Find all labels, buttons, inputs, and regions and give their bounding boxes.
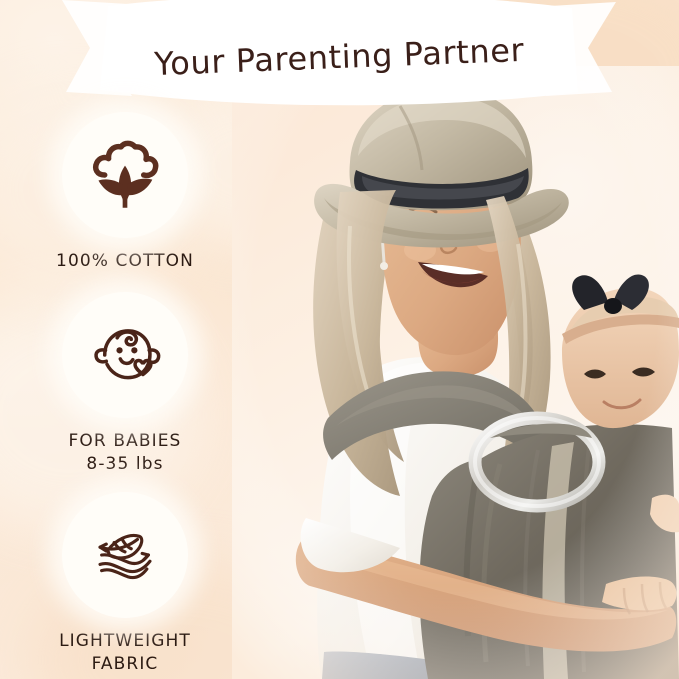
feature-label-line1: 100% COTTON (56, 251, 194, 271)
mother-and-baby-illustration (232, 66, 679, 679)
product-feature-poster: Your Parenting Partner 100% COTTON (0, 0, 679, 679)
headline-banner: Your Parenting Partner (0, 0, 679, 110)
feature-icon-badge (62, 492, 188, 618)
feature-item-babies: FOR BABIES 8-35 lbs (0, 292, 250, 477)
feature-label: LIGHTWEIGHT FABRIC (0, 630, 250, 677)
feature-label-line1: LIGHTWEIGHT (59, 631, 191, 651)
feature-item-cotton: 100% COTTON (0, 112, 250, 273)
lifestyle-photo (232, 66, 679, 679)
baby-face-icon (86, 316, 164, 394)
feature-label-line2: FABRIC (0, 653, 250, 676)
feature-icon-badge (62, 112, 188, 238)
feature-label: 100% COTTON (0, 250, 250, 273)
ribbon-shape (0, 0, 679, 110)
feature-icon-badge (62, 292, 188, 418)
feature-label: FOR BABIES 8-35 lbs (0, 430, 250, 477)
feather-fabric-icon (86, 516, 164, 594)
cotton-boll-icon (86, 136, 164, 214)
feature-label-line1: FOR BABIES (69, 431, 182, 451)
feature-item-lightweight: LIGHTWEIGHT FABRIC (0, 492, 250, 677)
feature-label-line2: 8-35 lbs (0, 453, 250, 476)
